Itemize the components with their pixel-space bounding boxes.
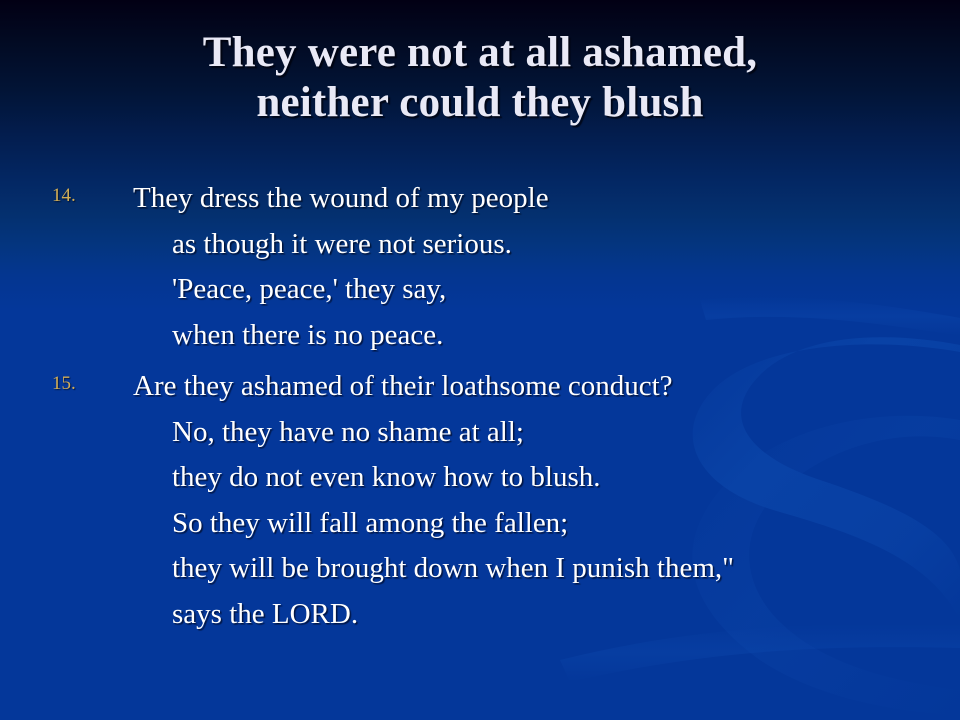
verse-stanza-15: 15. Are they ashamed of their loathsome … (0, 364, 960, 637)
slide-body: 14. They dress the wound of my people as… (0, 176, 960, 643)
verse-line: Are they ashamed of their loathsome cond… (0, 364, 960, 410)
verse-line: So they will fall among the fallen; (0, 501, 960, 547)
verse-line: No, they have no shame at all; (0, 410, 960, 456)
verse-line: they do not even know how to blush. (0, 455, 960, 501)
verse-line: as though it were not serious. (0, 222, 960, 268)
title-line-2: neither could they blush (60, 78, 900, 128)
verse-line: they will be brought down when I punish … (0, 546, 960, 592)
verse-number-14: 14. (52, 186, 98, 205)
verse-line: 'Peace, peace,' they say, (0, 267, 960, 313)
presentation-slide: They were not at all ashamed, neither co… (0, 0, 960, 720)
verse-line: when there is no peace. (0, 313, 960, 359)
verse-number-15: 15. (52, 374, 98, 393)
verse-line: says the LORD. (0, 592, 960, 638)
verse-lines-15: Are they ashamed of their loathsome cond… (0, 364, 960, 637)
verse-lines-14: They dress the wound of my people as tho… (0, 176, 960, 358)
title-line-1: They were not at all ashamed, (60, 28, 900, 78)
slide-title: They were not at all ashamed, neither co… (60, 28, 900, 128)
verse-line: They dress the wound of my people (0, 176, 960, 222)
verse-stanza-14: 14. They dress the wound of my people as… (0, 176, 960, 358)
